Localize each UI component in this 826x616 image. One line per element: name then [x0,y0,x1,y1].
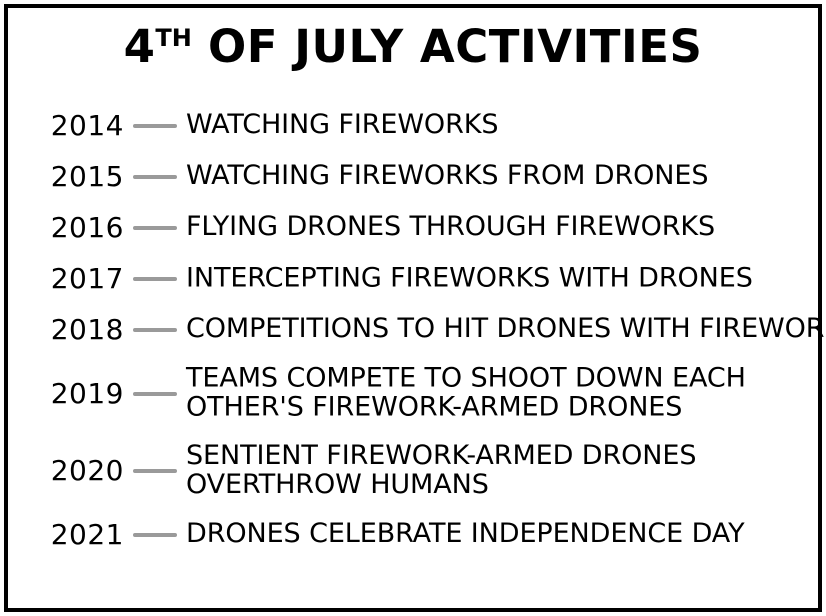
connector-dash-icon [133,469,177,473]
comic-panel-frame: 4TH OF JULY ACTIVITIES 2014 WATCHING FIR… [4,4,822,612]
list-item: 2018 COMPETITIONS TO HIT DRONES WITH FIR… [8,304,818,355]
activity-line: COMPETITIONS TO HIT DRONES WITH FIREWORK… [186,315,826,344]
list-item: 2019 TEAMS COMPETE TO SHOOT DOWN EACH OT… [8,355,818,432]
list-item: 2017 INTERCEPTING FIREWORKS WITH DRONES [8,253,818,304]
year-label: 2020 [34,457,124,485]
activity-line: WATCHING FIREWORKS [186,111,812,140]
list-item: 2015 WATCHING FIREWORKS FROM DRONES [8,151,818,202]
timeline-list: 2014 WATCHING FIREWORKS 2015 WATCHING FI… [8,100,818,560]
activity-text: FLYING DRONES THROUGH FIREWORKS [186,213,812,242]
activity-text: DRONES CELEBRATE INDEPENDENCE DAY [186,520,812,549]
year-label: 2018 [34,316,124,344]
title-number: 4 [124,20,156,73]
connector-dash-icon [133,392,177,396]
activity-line: OTHER'S FIREWORK-ARMED DRONES [186,393,812,422]
activity-line: SENTIENT FIREWORK-ARMED DRONES [186,442,812,471]
year-label: 2021 [34,521,124,549]
list-item: 2014 WATCHING FIREWORKS [8,100,818,151]
list-item: 2016 FLYING DRONES THROUGH FIREWORKS [8,202,818,253]
activity-text: WATCHING FIREWORKS [186,111,812,140]
connector-dash-icon [133,124,177,128]
connector-dash-icon [133,226,177,230]
title-remainder: OF JULY ACTIVITIES [192,20,702,73]
connector-dash-icon [133,328,177,332]
activity-line: INTERCEPTING FIREWORKS WITH DRONES [186,265,812,294]
activity-text: COMPETITIONS TO HIT DRONES WITH FIREWORK… [186,315,826,344]
year-label: 2016 [34,214,124,242]
activity-text: SENTIENT FIREWORK-ARMED DRONES OVERTHROW… [186,442,812,499]
activity-line: WATCHING FIREWORKS FROM DRONES [186,162,812,191]
list-item: 2021 DRONES CELEBRATE INDEPENDENCE DAY [8,509,818,560]
page-title: 4TH OF JULY ACTIVITIES [8,24,818,69]
activity-line: OVERTHROW HUMANS [186,471,812,500]
year-label: 2019 [34,380,124,408]
activity-line: FLYING DRONES THROUGH FIREWORKS [186,213,812,242]
activity-text: WATCHING FIREWORKS FROM DRONES [186,162,812,191]
connector-dash-icon [133,277,177,281]
activity-text: TEAMS COMPETE TO SHOOT DOWN EACH OTHER'S… [186,364,812,421]
list-item: 2020 SENTIENT FIREWORK-ARMED DRONES OVER… [8,432,818,509]
year-label: 2015 [34,163,124,191]
activity-text: INTERCEPTING FIREWORKS WITH DRONES [186,265,812,294]
activity-line: DRONES CELEBRATE INDEPENDENCE DAY [186,520,812,549]
connector-dash-icon [133,533,177,537]
year-label: 2014 [34,112,124,140]
connector-dash-icon [133,175,177,179]
activity-line: TEAMS COMPETE TO SHOOT DOWN EACH [186,364,812,393]
title-ordinal-suffix: TH [155,24,191,52]
year-label: 2017 [34,265,124,293]
